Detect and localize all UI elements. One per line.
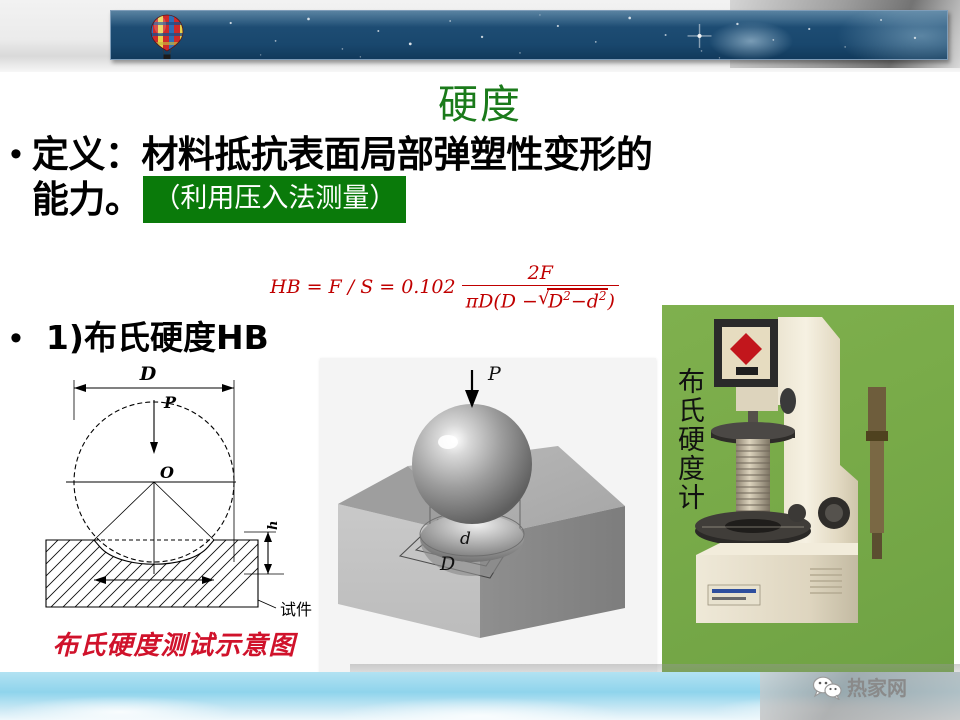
formula-left-hand-side: HB = F / S = 0.102 — [270, 276, 456, 298]
definition-bullet: • 定义：材料抵抗表面局部弹塑性变形的 能力。 （利用压入法测量） — [10, 132, 800, 223]
formula-denominator-suffix: ) — [608, 290, 615, 312]
brinell-test-schematic: D P O h 试件 — [36, 362, 314, 674]
banner-gloss — [111, 11, 947, 27]
brinell-hardness-bullet: • 1)布氏硬度HB — [10, 316, 269, 360]
watermark-text: 热家网 — [847, 676, 907, 700]
formula-numerator: 2F — [462, 262, 619, 285]
formula-denominator: πD(D −D2−d2) — [462, 286, 619, 312]
hot-air-balloon-icon — [147, 13, 187, 60]
formula-denominator-prefix: πD(D − — [466, 290, 538, 312]
radicand-base-1: D — [548, 290, 563, 312]
hardness-tester-illustration — [662, 305, 954, 672]
schematic-label-D: D — [139, 363, 157, 385]
schematic-drawing: D P O h 试件 — [36, 362, 314, 674]
schematic-label-O: O — [160, 463, 174, 482]
definition-bullet-body: 定义：材料抵抗表面局部弹塑性变形的 能力。 （利用压入法测量） — [32, 132, 800, 223]
schematic-label-h: h — [266, 521, 281, 530]
measurement-method-callout: （利用压入法测量） — [143, 176, 406, 223]
formula-square-root: D2−d2 — [538, 289, 608, 312]
schematic-label-specimen: 试件 — [280, 600, 312, 619]
formula-radicand: D2−d2 — [547, 289, 608, 312]
definition-line-2: 能力。 — [32, 177, 142, 223]
figure3d-label-P: P — [487, 363, 502, 385]
photo-vertical-label: 布氏硬度计 — [670, 367, 704, 512]
definition-line-1: 定义：材料抵抗表面局部弹塑性变形的 — [32, 132, 800, 178]
radicand-base-2: d — [587, 290, 599, 312]
figure3d-label-d: d — [460, 529, 471, 549]
bullet-marker-icon: • — [10, 132, 22, 176]
formula-fraction: 2F πD(D −D2−d2) — [462, 262, 619, 313]
square-root-bar — [547, 288, 608, 289]
brinell-indentation-3d-figure: P d D — [320, 358, 656, 674]
radicand-exponent-2: 2 — [599, 289, 607, 303]
indentation-3d-drawing: P d D — [320, 358, 656, 674]
header-band — [0, 0, 960, 72]
radicand-exponent-1: 2 — [563, 289, 571, 303]
wechat-icon — [812, 676, 842, 700]
page-title: 硬度 — [0, 82, 960, 128]
brinell-tester-photo: 布氏硬度计 — [662, 305, 954, 672]
definition-line-2-row: 能力。 （利用压入法测量） — [32, 176, 800, 223]
watermark: 热家网 — [812, 676, 907, 700]
radicand-operator: − — [571, 290, 587, 312]
brinell-hardness-label: 1)布氏硬度HB — [46, 317, 269, 359]
schematic-label-P: P — [163, 393, 177, 412]
schematic-caption: 布氏硬度测试示意图 — [38, 631, 310, 661]
bullet-marker-icon-2: • — [10, 316, 22, 360]
brinell-hardness-formula: HB = F / S = 0.102 2F πD(D −D2−d2) — [270, 256, 690, 318]
decorative-banner — [110, 10, 948, 60]
figure3d-label-D: D — [439, 553, 455, 575]
